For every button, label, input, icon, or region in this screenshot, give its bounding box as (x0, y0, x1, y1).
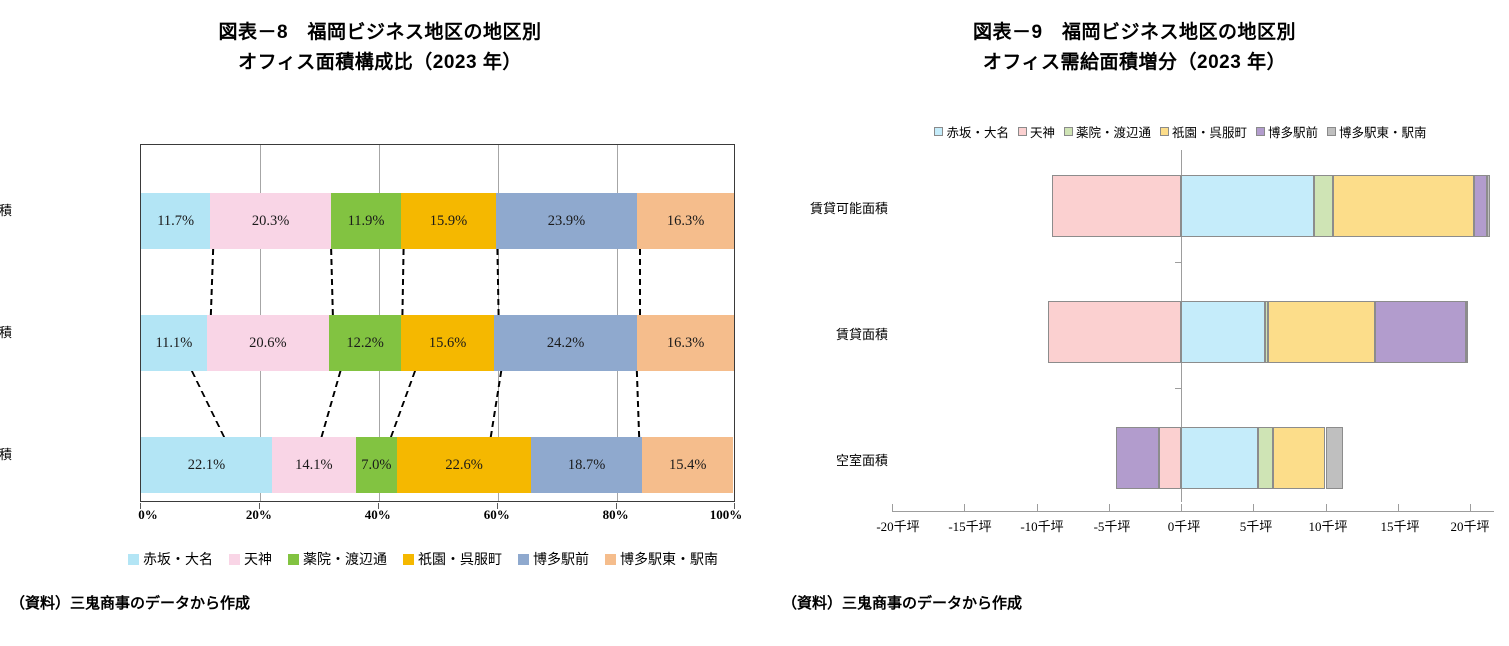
legend-item-1[interactable]: 天神 (229, 549, 272, 569)
figure-9-legend: 赤坂・大名天神薬院・渡辺通祇園・呉服町博多駅前博多駅東・駅南 (885, 122, 1485, 141)
bar-value-label: 12.2% (346, 335, 383, 352)
legend-item-3[interactable]: 祇園・呉服町 (403, 549, 502, 569)
connector-2-b (320, 371, 341, 437)
connector-2-c (390, 371, 416, 437)
bar-segment: 23.9% (496, 193, 638, 249)
xtick-40: 40% (365, 507, 391, 523)
y-tickmark-0 (1175, 262, 1181, 263)
legend-item-2[interactable]: 薬院・渡辺通 (288, 549, 387, 569)
legend-item-5[interactable]: 博多駅東・駅南 (605, 549, 718, 569)
bar-value-label: 14.1% (295, 457, 332, 474)
legend-swatch-icon (605, 554, 616, 565)
bar-segment (1268, 301, 1375, 363)
xtick-20: 20千坪 (1450, 516, 1489, 535)
connector-1-a (209, 249, 213, 315)
legend-item-0[interactable]: 赤坂・大名 (934, 122, 1009, 141)
legend-swatch-icon (229, 554, 240, 565)
bar-value-label: 23.9% (548, 213, 585, 230)
bar-value-label: 11.1% (155, 335, 192, 352)
xtick-5: 5千坪 (1240, 516, 1273, 535)
connector-1-c (401, 249, 404, 315)
figure-9-xaxis (892, 502, 1494, 512)
bar-segment: 11.9% (331, 193, 402, 249)
figure-8-title: 図表－8 福岡ビジネス地区の地区別 オフィス面積構成比（2023 年） (0, 0, 760, 78)
bar-segment: 18.7% (531, 437, 642, 493)
bar-segment: 16.3% (637, 193, 734, 249)
bar-segment (1326, 427, 1343, 489)
bar-segment (1181, 301, 1265, 363)
bar-value-label: 20.6% (249, 335, 286, 352)
bar-value-label: 18.7% (568, 457, 605, 474)
bar-segment (1375, 301, 1466, 363)
bar-value-label: 15.4% (669, 457, 706, 474)
legend-label: 博多駅東・駅南 (1339, 122, 1427, 141)
legend-item-1[interactable]: 天神 (1018, 122, 1055, 141)
xtick-80: 80% (603, 507, 629, 523)
table-row: 22.1%14.1%7.0%22.6%18.7%15.4% (141, 437, 734, 493)
bar-segment: 14.1% (272, 437, 356, 493)
bar-segment: 20.3% (210, 193, 330, 249)
bar-segment: 22.1% (141, 437, 272, 493)
bar-segment: 20.6% (207, 315, 329, 371)
connector-1-b (330, 249, 334, 315)
legend-swatch-icon (518, 554, 529, 565)
xtick-15: 15千坪 (1380, 516, 1419, 535)
legend-swatch-icon (128, 554, 139, 565)
legend-swatch-icon (1327, 127, 1336, 136)
bar-value-label: 15.9% (430, 213, 467, 230)
bar-segment (1258, 427, 1274, 489)
bar-segment (1487, 175, 1490, 237)
y-tickmark-1 (1175, 388, 1181, 389)
bar-value-label: 24.2% (547, 335, 584, 352)
bar-value-label: 20.3% (252, 213, 289, 230)
bar-segment (1474, 175, 1487, 237)
figure-8-ylabel-1: 賃貸面積 (0, 322, 12, 341)
xtick-neg5: -5千坪 (1094, 516, 1131, 535)
legend-item-0[interactable]: 赤坂・大名 (128, 549, 213, 569)
xtick-0: 0千坪 (1168, 516, 1201, 535)
connector-2-a (191, 371, 225, 437)
figure-9-ylabel-1: 賃貸面積 (728, 324, 888, 343)
legend-label: 祇園・呉服町 (418, 549, 502, 569)
legend-item-2[interactable]: 薬院・渡辺通 (1064, 122, 1151, 141)
table-row: 11.1%20.6%12.2%15.6%24.2%16.3% (141, 315, 734, 371)
figure-8-source: （資料）三鬼商事のデータから作成 (10, 592, 250, 613)
legend-item-5[interactable]: 博多駅東・駅南 (1327, 122, 1427, 141)
table-row (892, 301, 1494, 363)
bar-segment (1333, 175, 1475, 237)
bar-value-label: 22.6% (445, 457, 482, 474)
bar-segment (1181, 427, 1258, 489)
connector-2-e (636, 371, 640, 437)
figure-9-ylabel-2: 空室面積 (728, 450, 888, 469)
figure-8-ylabel-0: 賃貸可能面積 (0, 200, 12, 219)
legend-item-3[interactable]: 祇園・呉服町 (1160, 122, 1247, 141)
legend-label: 祇園・呉服町 (1172, 122, 1247, 141)
legend-label: 赤坂・大名 (143, 549, 213, 569)
legend-swatch-icon (1064, 127, 1073, 136)
bar-segment (1273, 427, 1325, 489)
bar-value-label: 7.0% (361, 457, 391, 474)
bar-value-label: 15.6% (429, 335, 466, 352)
legend-label: 薬院・渡辺通 (303, 549, 387, 569)
legend-label: 博多駅前 (1268, 122, 1318, 141)
xtick-0: 0% (138, 507, 158, 523)
table-row: 11.7%20.3%11.9%15.9%23.9%16.3% (141, 193, 734, 249)
bar-segment (1466, 301, 1468, 363)
bar-segment: 15.4% (642, 437, 733, 493)
xtick-neg10: -10千坪 (1020, 516, 1063, 535)
bar-value-label: 16.3% (667, 335, 704, 352)
bar-segment: 7.0% (356, 437, 398, 493)
figure-8-panel: 図表－8 福岡ビジネス地区の地区別 オフィス面積構成比（2023 年） 賃貸可能… (0, 0, 760, 646)
xtick-10: 10千坪 (1308, 516, 1347, 535)
figure-8-xaxis: 0% 20% 40% 60% 80% 100% (140, 503, 735, 525)
legend-label: 博多駅東・駅南 (620, 549, 718, 569)
figure-8-ylabel-2: 空室面積 (0, 444, 12, 463)
legend-label: 天神 (244, 549, 272, 569)
bar-segment: 11.1% (141, 315, 207, 371)
legend-item-4[interactable]: 博多駅前 (518, 549, 589, 569)
bar-segment (1159, 427, 1181, 489)
figure-8-plot-area: 11.7%20.3%11.9%15.9%23.9%16.3% 11.1%20.6… (140, 144, 735, 502)
figure-9-ylabel-0: 賃貸可能面積 (728, 198, 888, 217)
figure-9-title: 図表－9 福岡ビジネス地区の地区別 オフィス需給面積増分（2023 年） (760, 0, 1509, 78)
figure-9-title-line1: 図表－9 福岡ビジネス地区の地区別 (973, 22, 1296, 43)
xtick-neg15: -15千坪 (948, 516, 991, 535)
bar-segment: 11.7% (141, 193, 210, 249)
figure-9-plot-area (892, 150, 1494, 502)
connector-1-e (639, 249, 641, 315)
legend-swatch-icon (403, 554, 414, 565)
legend-swatch-icon (1256, 127, 1265, 136)
bar-value-label: 11.7% (157, 213, 194, 230)
legend-swatch-icon (288, 554, 299, 565)
legend-label: 赤坂・大名 (946, 122, 1009, 141)
figure-8-title-line2: オフィス面積構成比（2023 年） (0, 48, 760, 78)
bar-value-label: 16.3% (667, 213, 704, 230)
xtick-20: 20% (246, 507, 272, 523)
figure-8-title-line1: 図表－8 福岡ビジネス地区の地区別 (218, 22, 541, 43)
bar-segment (1048, 301, 1181, 363)
figure-9-source: （資料）三鬼商事のデータから作成 (782, 592, 1022, 613)
legend-swatch-icon (1160, 127, 1169, 136)
table-row (892, 427, 1494, 489)
bar-segment (1314, 175, 1333, 237)
legend-item-4[interactable]: 博多駅前 (1256, 122, 1318, 141)
bar-segment: 15.9% (401, 193, 495, 249)
legend-swatch-icon (934, 127, 943, 136)
legend-label: 天神 (1030, 122, 1055, 141)
table-row (892, 175, 1494, 237)
bar-segment (1181, 175, 1314, 237)
bar-segment (1052, 175, 1181, 237)
bar-segment: 22.6% (397, 437, 531, 493)
xtick-100: 100% (710, 507, 743, 523)
figure-8-legend: 赤坂・大名天神薬院・渡辺通祇園・呉服町博多駅前博多駅東・駅南 (128, 549, 748, 569)
bar-segment: 15.6% (401, 315, 494, 371)
legend-swatch-icon (1018, 127, 1027, 136)
legend-label: 薬院・渡辺通 (1076, 122, 1151, 141)
connector-1-d (496, 249, 499, 315)
bar-segment: 16.3% (637, 315, 734, 371)
bar-segment (1116, 427, 1159, 489)
bar-segment: 24.2% (494, 315, 638, 371)
bar-segment: 12.2% (329, 315, 401, 371)
legend-label: 博多駅前 (533, 549, 589, 569)
figure-9-title-line2: オフィス需給面積増分（2023 年） (760, 48, 1509, 78)
bar-value-label: 22.1% (188, 457, 225, 474)
xtick-60: 60% (484, 507, 510, 523)
connector-2-d (490, 371, 502, 437)
figure-9-panel: 図表－9 福岡ビジネス地区の地区別 オフィス需給面積増分（2023 年） 赤坂・… (760, 0, 1509, 646)
xtick-neg20: -20千坪 (876, 516, 919, 535)
bar-value-label: 11.9% (348, 213, 385, 230)
